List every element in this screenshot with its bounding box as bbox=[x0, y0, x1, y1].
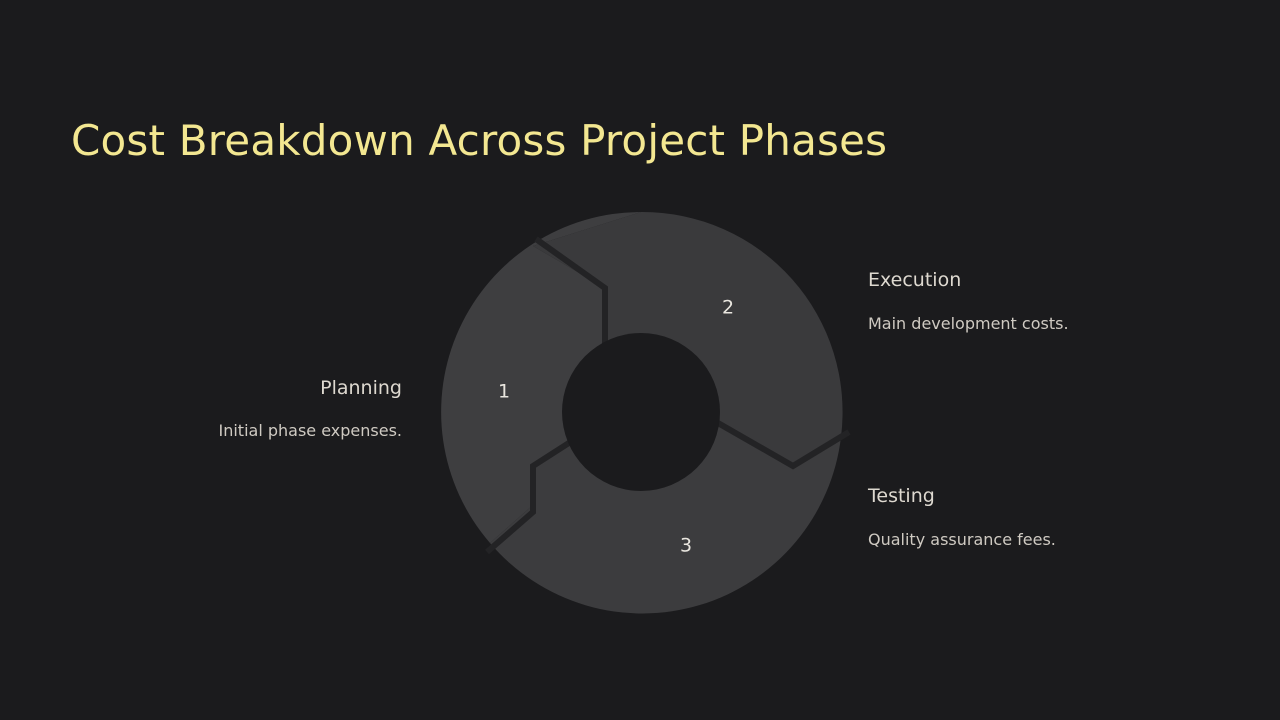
donut-hole bbox=[562, 333, 720, 491]
slide-canvas: Cost Breakdown Across Project Phases 1 2… bbox=[0, 0, 1280, 720]
callout-execution: Execution Main development costs. bbox=[868, 268, 1248, 335]
segment-number-3: 3 bbox=[680, 535, 692, 557]
callout-planning-description: Initial phase expenses. bbox=[0, 420, 402, 442]
callout-testing-title: Testing bbox=[868, 484, 1248, 508]
callout-execution-title: Execution bbox=[868, 268, 1248, 292]
segment-number-1: 1 bbox=[498, 381, 510, 403]
segment-number-2: 2 bbox=[722, 297, 734, 319]
callout-testing-description: Quality assurance fees. bbox=[868, 529, 1248, 551]
callout-testing: Testing Quality assurance fees. bbox=[868, 484, 1248, 551]
callout-planning: Planning Initial phase expenses. bbox=[0, 376, 402, 442]
callout-execution-description: Main development costs. bbox=[868, 313, 1248, 335]
callout-planning-title: Planning bbox=[0, 376, 402, 400]
donut-pinwheel-chart: 1 2 3 bbox=[0, 0, 1280, 720]
